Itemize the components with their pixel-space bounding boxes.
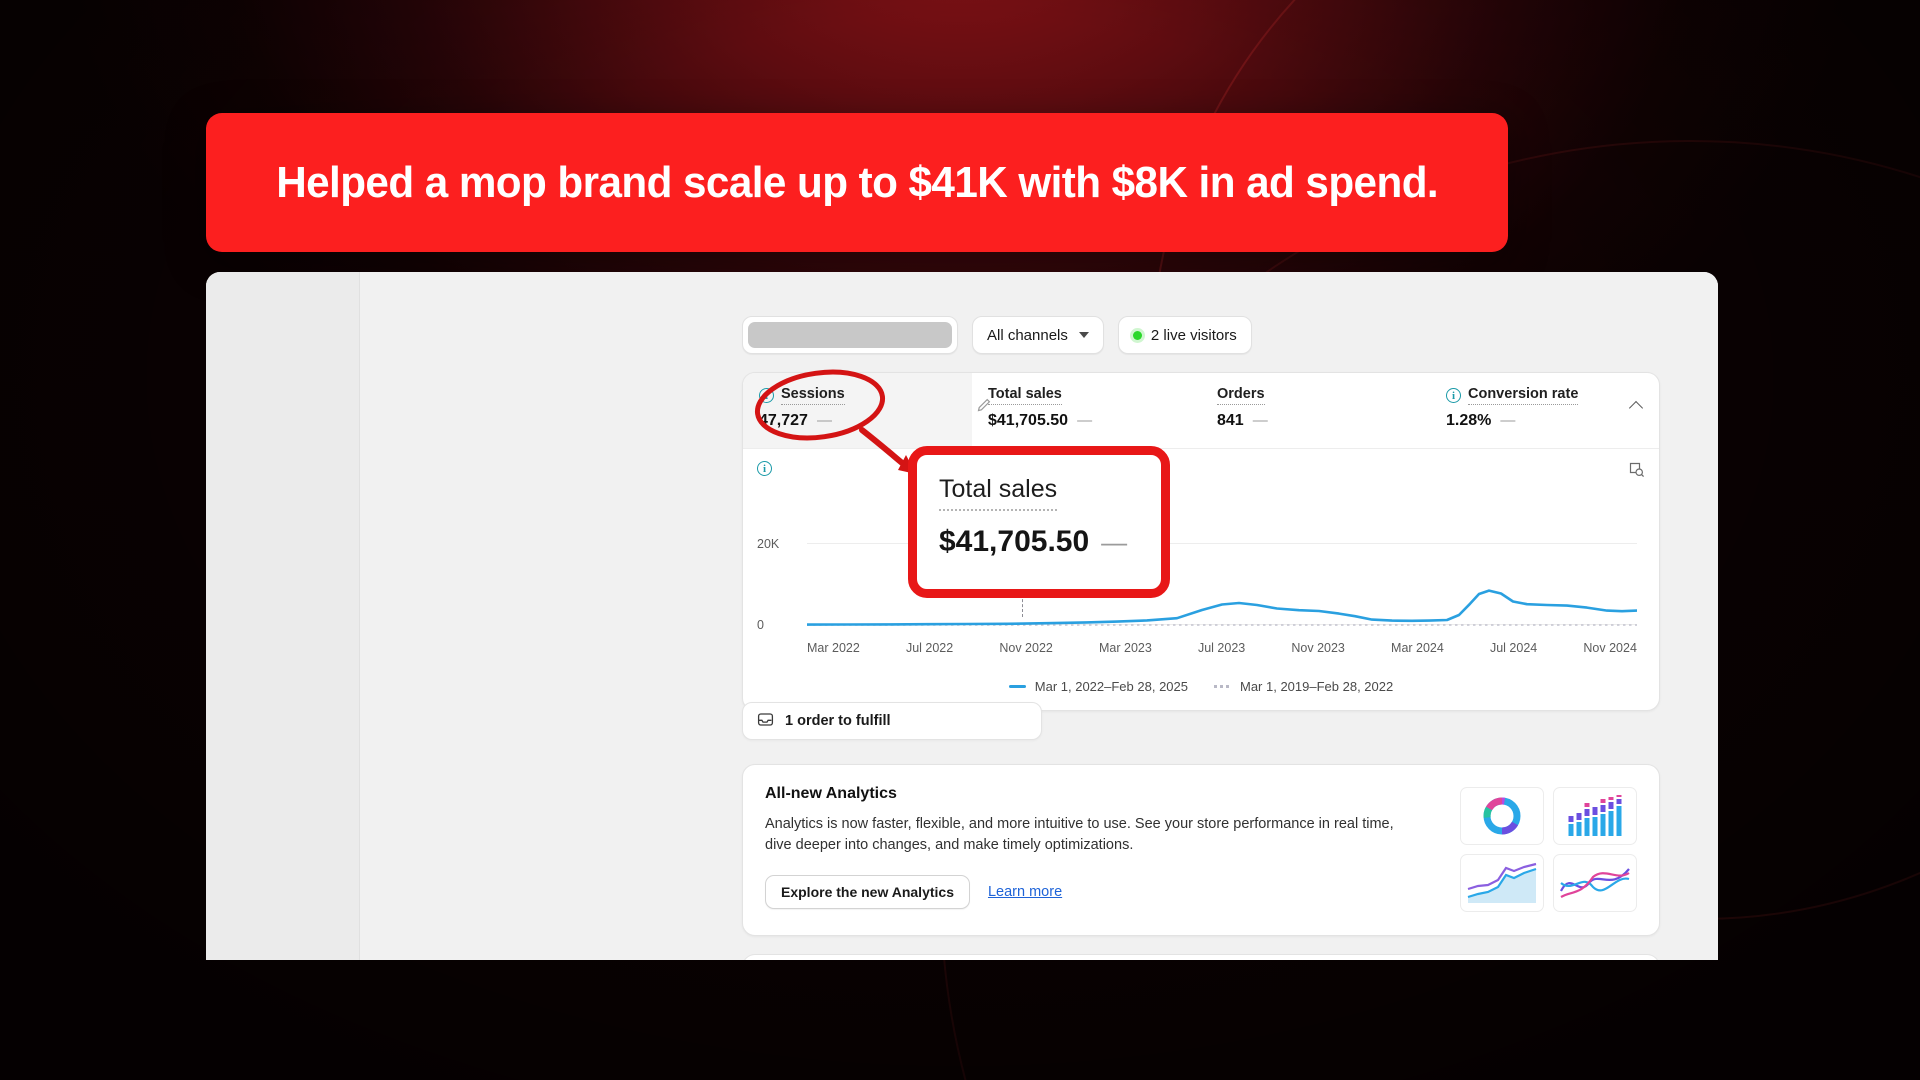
y-tick-0: 0 (757, 618, 805, 632)
legend-label-current: Mar 1, 2022–Feb 28, 2025 (1035, 679, 1188, 694)
metric-total-sales-label: Total sales (988, 386, 1062, 405)
metrics-chart-card: i Sessions 47,727 — Total sales $41,705.… (742, 372, 1660, 711)
analytics-thumbnails (1460, 787, 1637, 912)
all-new-analytics-card: All-new Analytics Analytics is now faste… (742, 764, 1660, 936)
metric-sessions-label: Sessions (781, 386, 845, 405)
metric-orders-value-row: 841 — (1217, 412, 1414, 430)
x-tick-1: Jul 2022 (906, 641, 953, 655)
chart-x-axis: Mar 2022 Jul 2022 Nov 2022 Mar 2023 Jul … (807, 641, 1637, 655)
chevron-down-icon (1079, 332, 1089, 338)
info-icon[interactable]: i (1446, 388, 1461, 403)
live-status-dot-icon (1133, 331, 1142, 340)
date-range-picker[interactable] (742, 316, 958, 354)
inbox-icon (757, 711, 774, 732)
x-tick-0: Mar 2022 (807, 641, 860, 655)
live-visitors-label: 2 live visitors (1151, 327, 1237, 344)
chevron-up-icon[interactable] (1629, 399, 1645, 409)
learn-more-link[interactable]: Learn more (988, 884, 1062, 900)
dashboard-content: All channels 2 live visitors i Sessions … (360, 272, 1718, 960)
x-tick-8: Nov 2024 (1583, 641, 1637, 655)
chart-plot-area: 1 (807, 489, 1637, 637)
metric-conversion-rate-head: i Conversion rate (1446, 386, 1643, 405)
chart-annotation-guideline (1022, 495, 1023, 617)
metric-conversion-rate-label: Conversion rate (1468, 386, 1578, 405)
metric-total-sales-head: Total sales (988, 386, 1185, 405)
analytics-card-body: Analytics is now faster, flexible, and m… (765, 814, 1410, 857)
metric-orders-label: Orders (1217, 386, 1265, 405)
metric-total-sales-change: — (1077, 412, 1092, 429)
channel-filter-dropdown[interactable]: All channels (972, 316, 1104, 354)
headline-text: Helped a mop brand scale up to $41K with… (276, 158, 1438, 208)
metric-sessions-change: — (817, 412, 832, 429)
pencil-icon[interactable] (976, 397, 992, 413)
metric-conversion-rate-value: 1.28% (1446, 412, 1491, 430)
metric-orders-value: 841 (1217, 412, 1244, 430)
x-tick-6: Mar 2024 (1391, 641, 1444, 655)
metric-orders[interactable]: Orders 841 — (1201, 373, 1430, 448)
live-visitors-button[interactable]: 2 live visitors (1118, 316, 1252, 354)
headline-banner: Helped a mop brand scale up to $41K with… (206, 113, 1508, 252)
metric-sessions-head: i Sessions (759, 386, 956, 405)
next-card-peek (742, 954, 1660, 960)
legend-item-current[interactable]: Mar 1, 2022–Feb 28, 2025 (1009, 679, 1188, 694)
x-tick-5: Nov 2023 (1291, 641, 1345, 655)
series-current-line (807, 591, 1637, 625)
explore-new-analytics-button[interactable]: Explore the new Analytics (765, 875, 970, 909)
bar-chart-thumb (1553, 787, 1637, 845)
metric-orders-head: Orders (1217, 386, 1414, 405)
metric-orders-change: — (1253, 412, 1268, 429)
metric-conversion-rate-change: — (1500, 412, 1515, 429)
legend-swatch-solid-icon (1009, 685, 1026, 688)
x-tick-3: Mar 2023 (1099, 641, 1152, 655)
info-icon[interactable]: i (759, 388, 774, 403)
metric-conversion-rate[interactable]: i Conversion rate 1.28% — (1430, 373, 1659, 448)
orders-to-fulfill-button[interactable]: 1 order to fulfill (742, 702, 1042, 740)
multi-line-chart-thumb (1553, 854, 1637, 912)
metric-sessions-value-row: 47,727 — (759, 412, 956, 430)
donut-chart-thumb (1460, 787, 1544, 845)
x-tick-2: Nov 2022 (999, 641, 1053, 655)
legend-swatch-dotted-icon (1214, 685, 1231, 688)
orders-to-fulfill-label: 1 order to fulfill (785, 713, 891, 729)
chart-annotation-pin[interactable]: 1 (1008, 461, 1038, 499)
chart-plot: 20K 0 1 (757, 489, 1647, 629)
legend-label-comparison: Mar 1, 2019–Feb 28, 2022 (1240, 679, 1393, 694)
date-range-redacted-value (748, 322, 952, 348)
metric-sessions[interactable]: i Sessions 47,727 — (743, 373, 972, 448)
sessions-chart: i 20K 0 (743, 449, 1659, 677)
channel-filter-label: All channels (987, 327, 1068, 344)
y-tick-20k: 20K (757, 537, 805, 551)
info-icon[interactable]: i (757, 461, 772, 476)
legend-item-comparison[interactable]: Mar 1, 2019–Feb 28, 2022 (1214, 679, 1393, 694)
x-tick-7: Jul 2024 (1490, 641, 1537, 655)
explore-zoom-icon[interactable] (1628, 461, 1645, 483)
dashboard-panel: All channels 2 live visitors i Sessions … (206, 272, 1718, 960)
area-chart-thumb (1460, 854, 1544, 912)
chart-series-svg (807, 489, 1637, 637)
dashboard-toolbar: All channels 2 live visitors (742, 316, 1252, 354)
metrics-row: i Sessions 47,727 — Total sales $41,705.… (743, 373, 1659, 449)
metric-total-sales-value: $41,705.50 (988, 412, 1068, 430)
dashboard-sidebar-rail (206, 272, 360, 960)
x-tick-4: Jul 2023 (1198, 641, 1245, 655)
metric-total-sales[interactable]: Total sales $41,705.50 — (972, 373, 1201, 448)
metric-conversion-rate-value-row: 1.28% — (1446, 412, 1643, 430)
metric-total-sales-value-row: $41,705.50 — (988, 412, 1185, 430)
metric-sessions-value: 47,727 (759, 412, 808, 430)
